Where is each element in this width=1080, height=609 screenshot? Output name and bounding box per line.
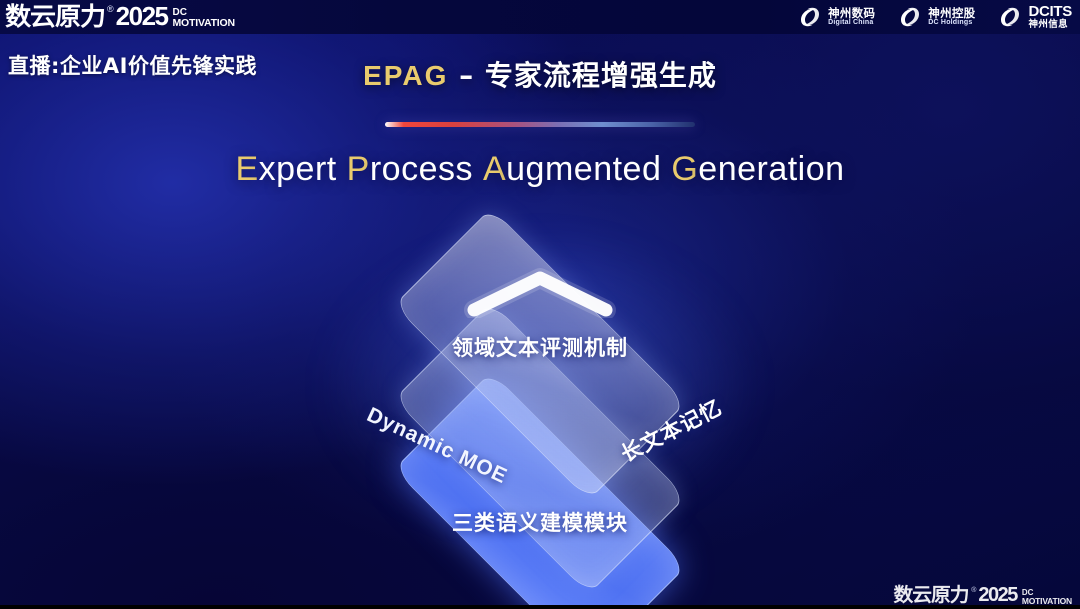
- title-divider: [385, 122, 695, 127]
- title-separator: –: [448, 59, 485, 92]
- partner-dc-holdings: 神州控股 DC Holdings: [897, 5, 975, 29]
- footer-watermark: 数云原力 ® 2025 DC MOTIVATION: [895, 585, 1072, 605]
- watermark-dc-motivation: DC MOTIVATION: [1022, 589, 1072, 606]
- partner-name-en: DC Holdings: [928, 19, 975, 26]
- partner-dc-holdings-text: 神州控股 DC Holdings: [928, 7, 975, 26]
- partner-name-en: DCITS: [1028, 4, 1072, 20]
- title-chinese: 专家流程增强生成: [485, 59, 717, 92]
- partner-name-cn: 神州数码: [828, 7, 875, 19]
- bottom-letterbox: [0, 605, 1080, 609]
- slide-canvas: 数云原力 ® 2025 DC MOTIVATION 直播:企业AI价值先锋实践 …: [0, 0, 1080, 609]
- slide-subtitle: Expert Process Augmented Generation: [0, 150, 1080, 189]
- live-stream-label: 直播:企业AI价值先锋实践: [8, 50, 257, 80]
- watermark-registered-mark: ®: [971, 587, 976, 594]
- partner-digital-china: 神州数码 Digital China: [797, 5, 875, 29]
- layer-stack-diagram: 领域文本评测机制 Dynamic MOE 长文本记忆 三类语义建模模块: [0, 210, 1080, 600]
- partner-digital-china-text: 神州数码 Digital China: [828, 7, 875, 26]
- watermark-dc-line2: MOTIVATION: [1022, 597, 1072, 606]
- dc-holdings-swirl-icon: [897, 5, 923, 29]
- brand-dc-motivation: DC MOTIVATION: [173, 8, 235, 29]
- watermark-brand-cn: 数云原力: [894, 586, 969, 605]
- subtitle-rest-3: ugmented: [506, 150, 661, 188]
- partner-name-cn: 神州信息: [1028, 20, 1072, 30]
- subtitle-rest-1: xpert: [259, 150, 337, 188]
- partner-dcits-text: DCITS 神州信息: [1028, 4, 1072, 30]
- subtitle-cap-4: G: [671, 150, 698, 188]
- brand-name-cn: 数云原力: [5, 4, 105, 29]
- title-acronym: EPAG: [363, 60, 448, 91]
- digital-china-swirl-icon: [797, 5, 823, 29]
- brand-logo: 数云原力 ® 2025 DC MOTIVATION: [7, 1, 235, 31]
- partner-name-cn: 神州控股: [928, 7, 975, 19]
- partner-name-en: Digital China: [828, 19, 875, 26]
- registered-mark: ®: [107, 4, 114, 14]
- subtitle-rest-4: eneration: [698, 150, 844, 188]
- brand-year: 2025: [116, 3, 168, 29]
- subtitle-cap-1: E: [235, 150, 258, 188]
- layer-top-label: 领域文本评测机制: [452, 332, 628, 362]
- partner-dcits: DCITS 神州信息: [997, 4, 1072, 30]
- subtitle-cap-2: P: [347, 150, 370, 188]
- dcits-swirl-icon: [997, 5, 1023, 29]
- subtitle-cap-3: A: [483, 150, 506, 188]
- subtitle-rest-2: rocess: [370, 150, 473, 188]
- brand-dc-line2: MOTIVATION: [173, 18, 235, 29]
- watermark-year: 2025: [978, 585, 1017, 605]
- layer-bottom-label: 三类语义建模模块: [452, 507, 628, 537]
- partner-logo-group: 神州数码 Digital China 神州控股 DC Holdings DCIT…: [797, 3, 1072, 31]
